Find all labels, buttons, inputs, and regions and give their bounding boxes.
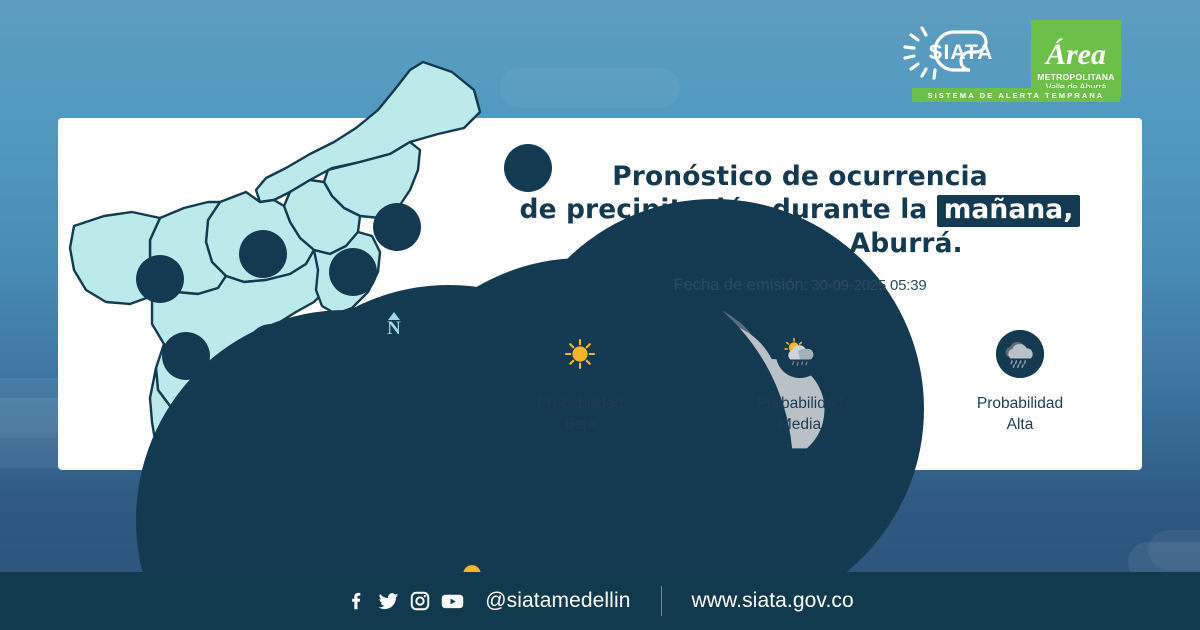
background-cloud-bottom-right-2	[1148, 530, 1200, 570]
sun-rain-cloud-icon	[776, 330, 824, 378]
infographic-stage: SIATA Área METROPOLITANA Valle de Aburrá…	[0, 0, 1200, 630]
legend-label-low-line1: Probabilidad	[485, 393, 675, 414]
marker-sabaneta[interactable]	[164, 436, 212, 484]
sun-icon-glyph	[556, 330, 604, 378]
youtube-icon[interactable]	[440, 590, 465, 612]
marker-medellin-norte[interactable]	[162, 332, 210, 380]
forecast-text-block: Pronóstico de ocurrencia de precipitació…	[470, 160, 1130, 295]
rain-cloud-icon-glyph	[996, 330, 1044, 378]
emission-date: Fecha de emisión:30-09-2025 05:39	[470, 276, 1130, 295]
emission-date-label: Fecha de emisión:	[673, 276, 808, 294]
legend-label-medium: Probabilidad Media	[705, 393, 895, 435]
legend-label-medium-line2: Media	[705, 414, 895, 435]
area-logo-line1: METROPOLITANA	[1037, 72, 1114, 82]
footer-content: @siatamedellin www.siata.gov.co	[0, 572, 1200, 630]
valle-de-aburra-map: N	[60, 50, 480, 580]
marker-envigado[interactable]	[313, 348, 361, 396]
marker-sur[interactable]	[198, 516, 246, 564]
social-handle[interactable]: @siatamedellin	[485, 589, 630, 613]
legend-label-high-line1: Probabilidad	[925, 393, 1115, 414]
legend-label-low: Probabilidad Baja	[485, 393, 675, 435]
marker-la-estrella[interactable]	[215, 441, 263, 489]
legend-label-high-line2: Alta	[925, 414, 1115, 435]
tagline-bar: SISTEMA DE ALERTA TEMPRANA	[912, 88, 1120, 102]
tagline-text: SISTEMA DE ALERTA TEMPRANA	[928, 91, 1105, 100]
headline-line-1: Pronóstico de ocurrencia	[470, 160, 1130, 193]
instagram-icon[interactable]	[409, 590, 431, 612]
twitter-icon[interactable]	[377, 590, 400, 612]
legend-label-high: Probabilidad Alta	[925, 393, 1115, 435]
headline-highlight: mañana,	[937, 195, 1081, 227]
area-metropolitana-logo: Área METROPOLITANA Valle de Aburrá	[1031, 20, 1121, 98]
footer-divider	[661, 586, 662, 616]
compass-label: N	[387, 321, 401, 337]
page-title: Pronóstico de ocurrencia de precipitació…	[470, 160, 1130, 260]
emission-date-value: 30-09-2025 05:39	[811, 277, 926, 294]
marker-caldas[interactable]	[262, 427, 310, 475]
marker-medellin[interactable]	[247, 324, 295, 372]
headline-line-2-prefix: de precipitación durante la	[520, 194, 928, 225]
website-url[interactable]: www.siata.gov.co	[692, 589, 854, 613]
footer-bar: @siatamedellin www.siata.gov.co	[0, 572, 1200, 630]
legend-item-low: Probabilidad Baja	[485, 330, 675, 435]
headline-line-2: de precipitación durante la mañana,	[470, 193, 1130, 227]
legend-item-high: Probabilidad Alta	[925, 330, 1115, 435]
social-icons	[346, 590, 465, 612]
sun-rain-cloud-icon-glyph	[776, 330, 824, 378]
compass-north-icon: N	[367, 297, 421, 351]
siata-logo-icon: SIATA	[898, 20, 1023, 82]
probability-legend: Probabilidad Baja	[470, 330, 1130, 435]
logo-group: SIATA Área METROPOLITANA Valle de Aburrá…	[898, 20, 1122, 112]
sun-icon	[556, 330, 604, 378]
legend-label-low-line2: Baja	[485, 414, 675, 435]
background-cloud-top-center	[500, 68, 680, 108]
rain-cloud-icon	[996, 330, 1044, 378]
legend-label-medium-line1: Probabilidad	[705, 393, 895, 414]
marker-bello[interactable]	[136, 255, 184, 303]
headline-line-3: en el Valle de Aburrá.	[470, 227, 1130, 260]
siata-logo-text: SIATA	[929, 41, 994, 64]
area-logo-script: Área	[1046, 40, 1106, 70]
facebook-icon[interactable]	[346, 590, 368, 612]
legend-item-medium: Probabilidad Media	[705, 330, 895, 435]
